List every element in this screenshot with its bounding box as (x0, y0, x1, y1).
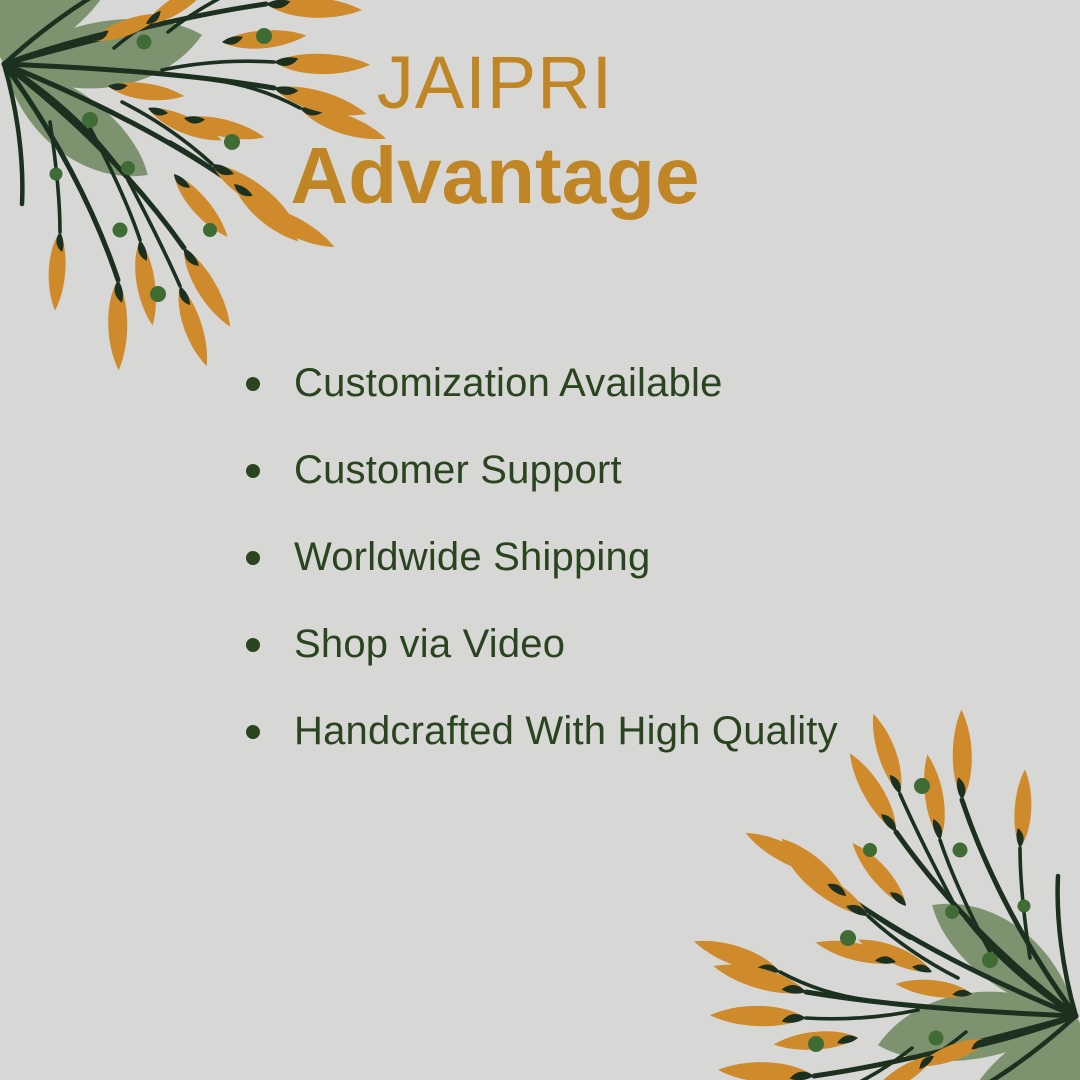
title-line-subject: Advantage (255, 136, 735, 216)
list-item: Customer Support (246, 427, 1026, 514)
list-item: Handcrafted With High Quality (246, 688, 1026, 775)
benefit-label: Worldwide Shipping (294, 535, 650, 580)
benefit-label: Shop via Video (294, 622, 565, 667)
list-item: Customization Available (246, 340, 1026, 427)
list-item: Shop via Video (246, 601, 1026, 688)
bullet-dot-icon (246, 551, 260, 565)
benefits-list: Customization Available Customer Support… (246, 340, 1026, 775)
poster-canvas: JAIPRI Advantage Customization Available… (0, 0, 1080, 1080)
bullet-dot-icon (246, 725, 260, 739)
benefit-label: Customization Available (294, 361, 723, 406)
bullet-dot-icon (246, 638, 260, 652)
bullet-dot-icon (246, 464, 260, 478)
title-line-brand: JAIPRI (255, 46, 735, 120)
benefit-label: Handcrafted With High Quality (294, 709, 838, 754)
bullet-dot-icon (246, 377, 260, 391)
list-item: Worldwide Shipping (246, 514, 1026, 601)
page-title: JAIPRI Advantage (255, 46, 735, 216)
benefit-label: Customer Support (294, 448, 622, 493)
